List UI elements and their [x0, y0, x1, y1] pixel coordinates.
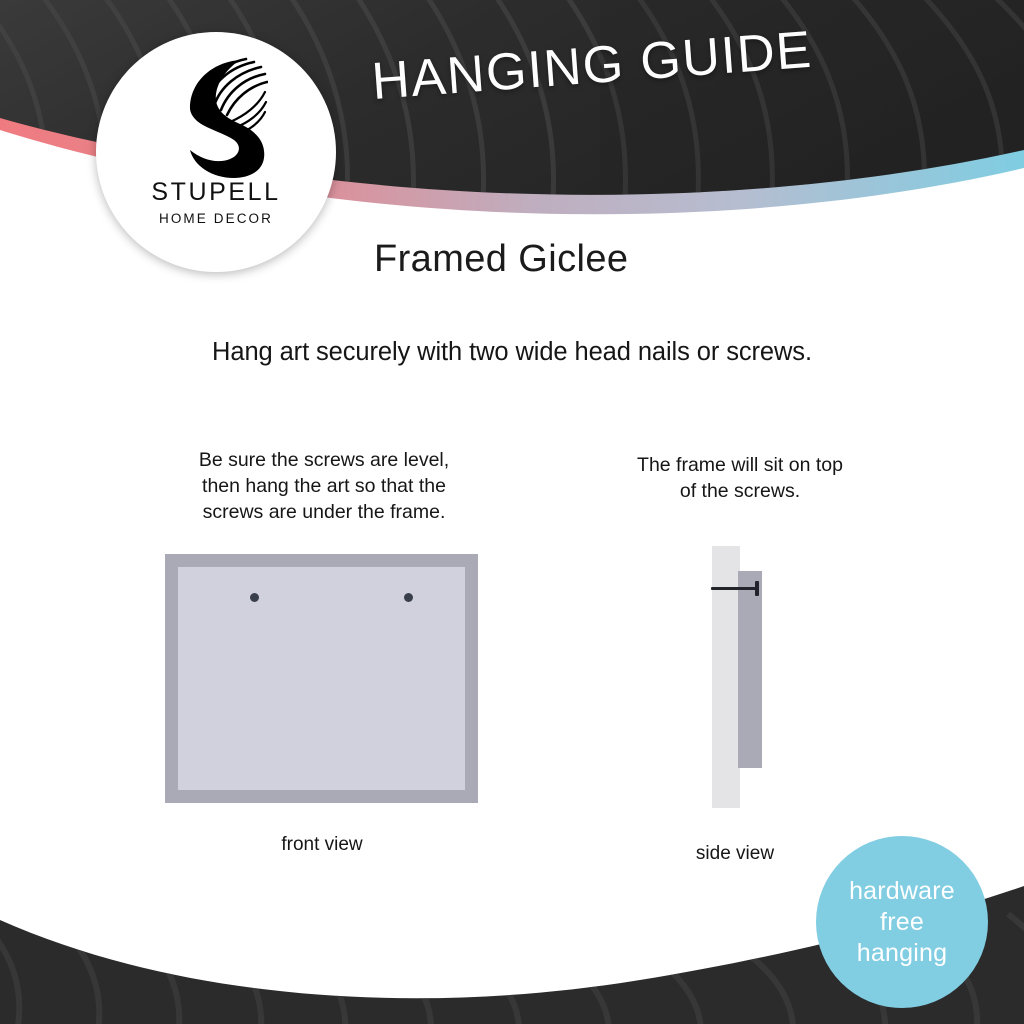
side-view-label: side view	[652, 843, 818, 865]
side-view-frame-body	[738, 571, 762, 768]
logo-brand-tagline: HOME DECOR	[159, 212, 273, 226]
front-view-frame-interior	[178, 567, 465, 790]
badge-line-2: free	[880, 907, 924, 938]
brand-logo-badge: STUPELL HOME DECOR	[96, 32, 336, 272]
side-view-caption: The frame will sit on top of the screws.	[590, 452, 890, 504]
front-view-caption-line-3: screws are under the frame.	[150, 499, 498, 525]
product-type-label: Framed Giclee	[374, 238, 628, 281]
side-view-frame-diagram	[706, 546, 786, 808]
front-view-label: front view	[172, 834, 472, 856]
screw-hole-right-icon	[404, 593, 413, 602]
front-view-caption-line-2: then hang the art so that the	[150, 473, 498, 499]
hanging-guide-page: STUPELL HOME DECOR HANGING GUIDE Framed …	[0, 0, 1024, 1024]
badge-line-3: hanging	[857, 938, 947, 969]
front-view-caption-line-1: Be sure the screws are level,	[150, 447, 498, 473]
lead-instruction: Hang art securely with two wide head nai…	[0, 338, 1024, 367]
front-view-frame-diagram	[165, 554, 478, 803]
stupell-swoosh-icon	[164, 54, 268, 178]
side-view-caption-line-2: of the screws.	[590, 478, 890, 504]
screw-hole-left-icon	[250, 593, 259, 602]
badge-line-1: hardware	[849, 876, 955, 907]
hardware-free-hanging-badge: hardware free hanging	[816, 836, 988, 1008]
page-title: HANGING GUIDE	[370, 15, 883, 112]
side-view-caption-line-1: The frame will sit on top	[590, 452, 890, 478]
nail-shaft-icon	[711, 587, 758, 590]
side-view-wall	[712, 546, 740, 808]
nail-head-icon	[755, 581, 759, 596]
logo-brand-name: STUPELL	[151, 180, 280, 205]
front-view-caption: Be sure the screws are level, then hang …	[150, 447, 498, 525]
